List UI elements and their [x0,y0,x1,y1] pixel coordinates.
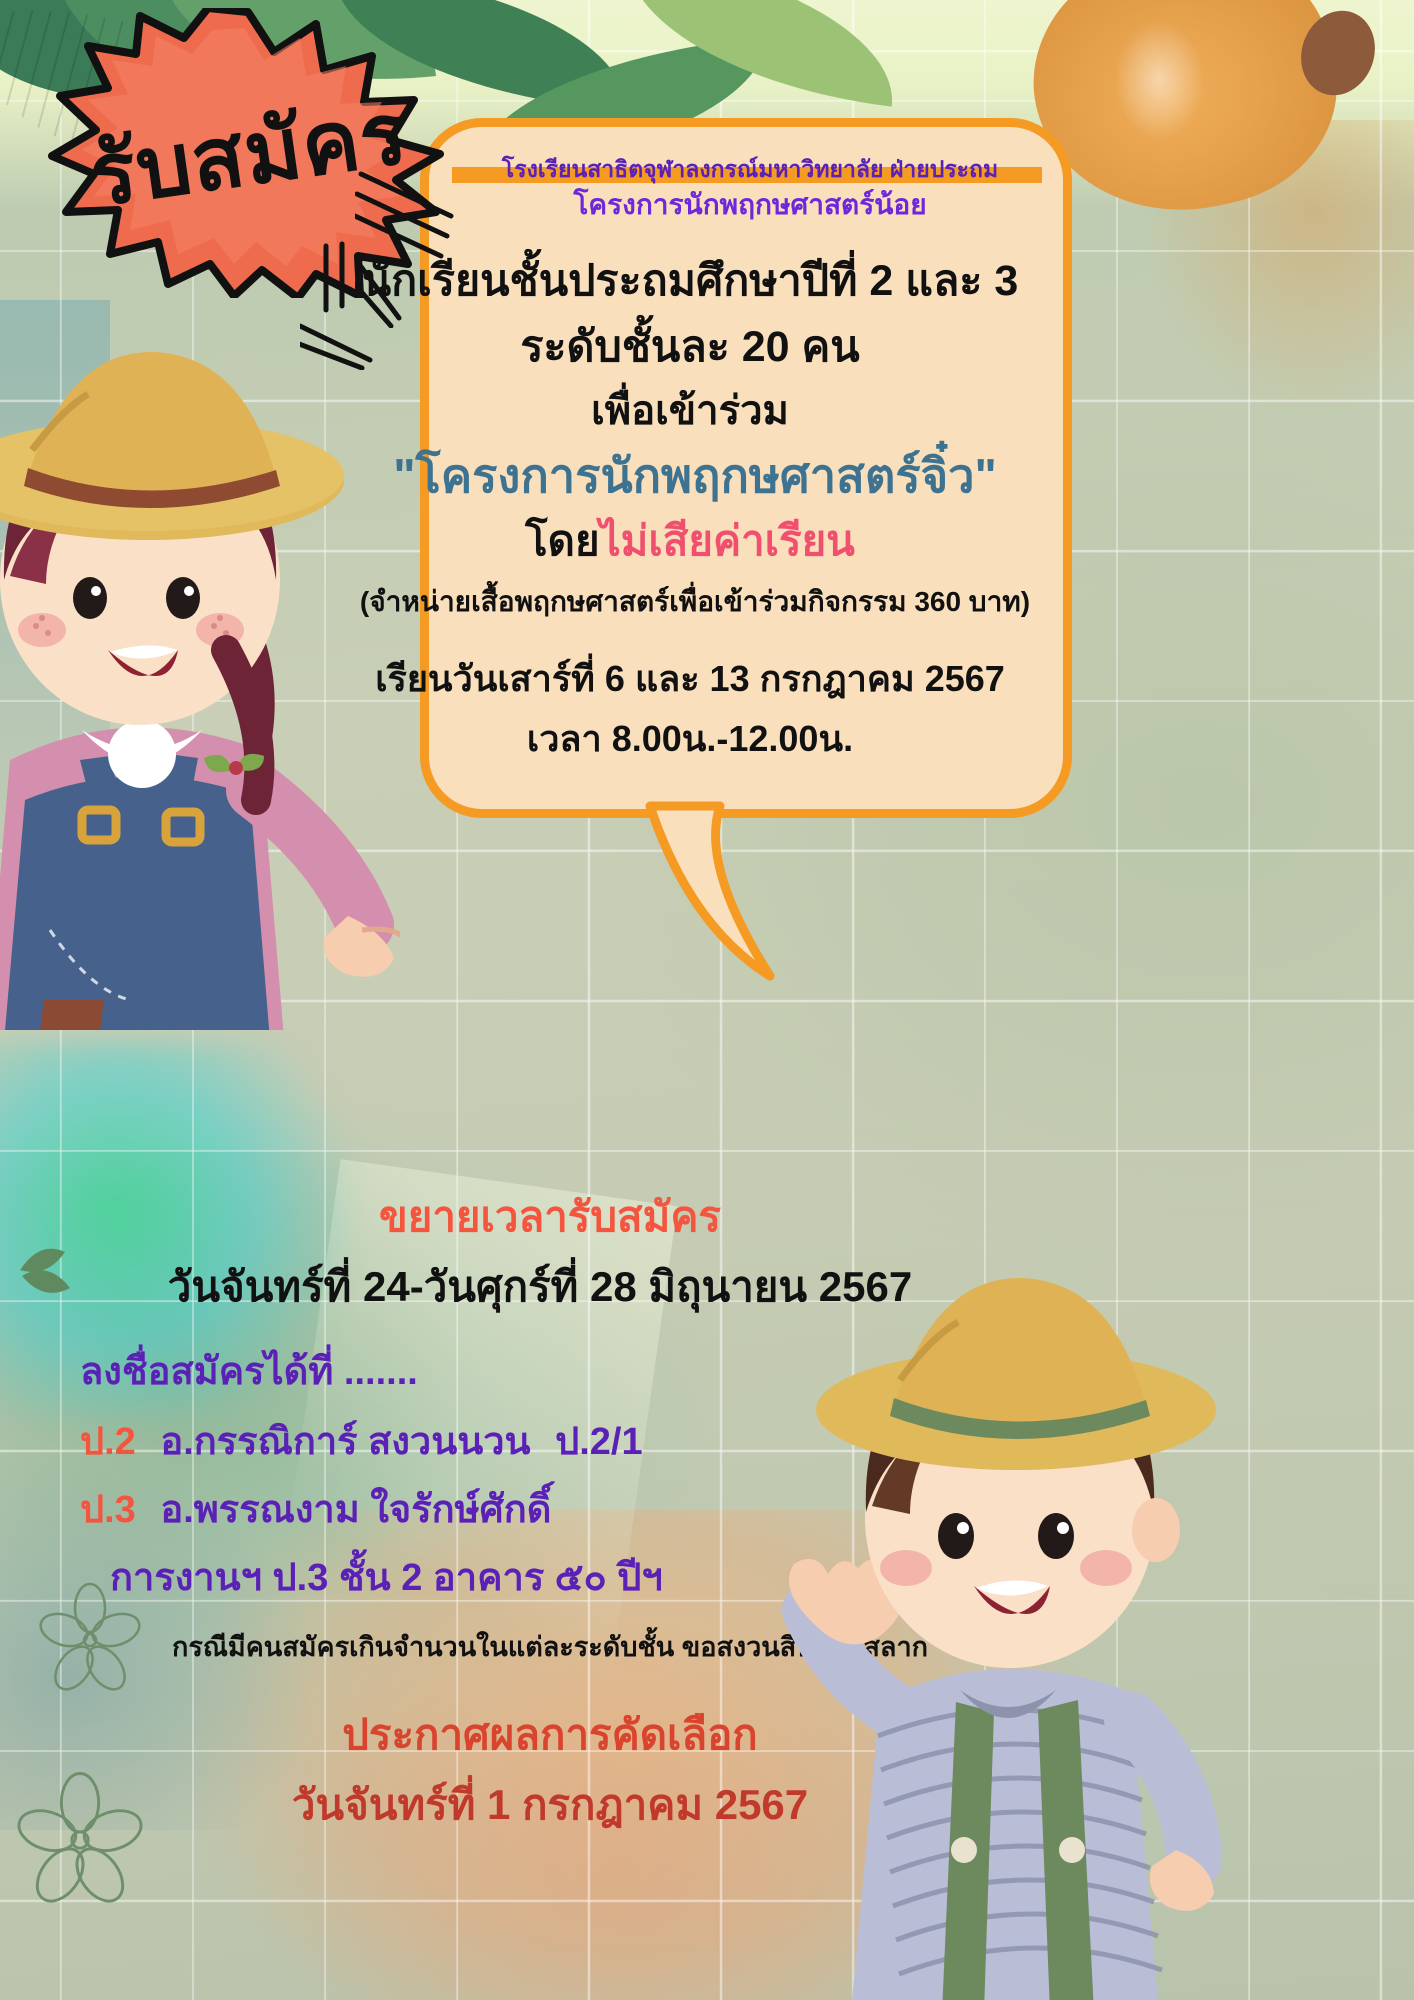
free-prefix: โดย [525,517,599,564]
eligibility-line: นักเรียนชั้นประถมศึกษาปีที่ 2 และ 3 [320,256,1060,307]
project-title: "โครงการนักพฤกษศาสตร์จิ๋ว" [300,448,1090,503]
gourd-highlight [1114,20,1204,140]
flower-outline-icon-2 [10,1770,150,1910]
teacher-name-2: อ.กรรณิการ์ สงวนนวน [160,1421,530,1463]
join-line: เพื่อเข้าร่วม [320,388,1060,435]
contact-row-grade3: ป.3 อ.พรรณงาม ใจรักษ์ศักดิ์ [20,1488,840,1533]
shirt-fee-note: (จำหน่ายเสื้อพฤกษศาสตร์เพื่อเข้าร่วมกิจก… [280,585,1110,618]
free-highlight: ไม่เสียค่าเรียน [600,517,855,564]
study-time: เวลา 8.00น.-12.00น. [320,718,1060,760]
speech-bubble-tail [640,796,870,1006]
teacher-name-3: อ.พรรณงาม ใจรักษ์ศักดิ์ [160,1489,551,1531]
study-date: เรียนวันเสาร์ที่ 6 และ 13 กรกฎาคม 2567 [320,658,1060,700]
grade-tag-2: ป.2 [80,1421,136,1463]
extension-heading: ขยายเวลารับสมัคร [200,1192,900,1242]
school-name: โรงเรียนสาธิตจุฬาลงกรณ์มหาวิทยาลัย ฝ่ายป… [430,156,1070,183]
grade-tag-3: ป.3 [80,1489,136,1531]
contact-row-grade2: ป.2 อ.กรรณิการ์ สงวนนวน ป.2/1 [20,1420,840,1465]
signup-label: ลงชื่อสมัครได้ที่ ....... [20,1350,760,1395]
room-2: ป.2/1 [555,1421,643,1463]
project-name-header: โครงการนักพฤกษศาสตร์น้อย [430,188,1070,221]
free-tuition-line: โดยไม่เสียค่าเรียน [320,516,1060,566]
boy-character-illustration [760,1250,1240,2000]
quota-line: ระดับชั้นละ 20 คน [320,322,1060,373]
poster-canvas: รับสมัคร โรงเรียนสาธิตจุฬาลงกรณ์มหาวิทยา… [0,0,1414,2000]
